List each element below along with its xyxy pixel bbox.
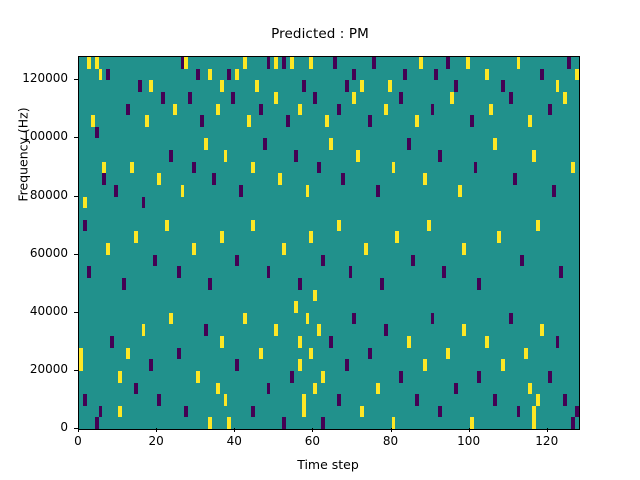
y-tick-mark [74,370,78,371]
heatmap-cell [142,324,146,336]
heatmap-cell [294,301,298,313]
heatmap-cell [267,383,271,395]
heatmap-cell [470,417,474,429]
x-tick-label: 20 [126,434,186,448]
heatmap-cell [364,243,368,255]
heatmap-cell [333,57,337,69]
heatmap-cell [575,69,579,81]
heatmap-cell [83,394,87,406]
heatmap-cell [442,266,446,278]
heatmap-cell [184,57,188,69]
heatmap-cell [372,57,376,69]
heatmap-cell [434,69,438,81]
heatmap-cell [106,69,110,81]
heatmap-cell [493,394,497,406]
heatmap-cell [149,80,153,92]
heatmap-cell [352,69,356,81]
heatmap-cell [224,394,228,406]
heatmap-cell [247,115,251,127]
x-tick-label: 0 [48,434,108,448]
heatmap-cell [427,220,431,232]
heatmap-cell [95,127,99,139]
heatmap-cell [255,80,259,92]
heatmap-cell [227,417,231,429]
y-tick-label: 60000 [0,246,68,260]
heatmap-cell [231,92,235,104]
heatmap-cell [458,185,462,197]
heatmap-cell [419,57,423,69]
heatmap-cell [263,138,267,150]
heatmap-cell [493,138,497,150]
matplotlib-figure: Predicted : PM 020406080100120 020000400… [0,0,640,480]
heatmap-cell [517,406,521,418]
heatmap-cell [95,57,99,69]
heatmap-cell [177,266,181,278]
heatmap-cell [157,394,161,406]
heatmap-cell [477,278,481,290]
x-axis-label: Time step [78,457,578,472]
heatmap-cell [173,104,177,116]
heatmap-cell [345,359,349,371]
heatmap-cell [83,220,87,232]
heatmap-cell [313,383,317,395]
heatmap-cell [290,371,294,383]
heatmap-cell [220,336,224,348]
heatmap-cell [83,197,87,209]
heatmap-cell [177,348,181,360]
heatmap-cell [161,92,165,104]
heatmap-cell [169,150,173,162]
x-tick-label: 80 [361,434,421,448]
heatmap-cell [274,92,278,104]
heatmap-cell [298,278,302,290]
heatmap-cell [548,371,552,383]
heatmap-cell [376,185,380,197]
heatmap-cell [126,348,130,360]
heatmap-cell [212,173,216,185]
heatmap-cell [302,80,306,92]
y-tick-label: 80000 [0,188,68,202]
heatmap-cell [462,324,466,336]
heatmap-cell [200,115,204,127]
y-tick-label: 40000 [0,304,68,318]
heatmap-cell [497,231,501,243]
heatmap-cell [438,150,442,162]
heatmap-cell [415,394,419,406]
heatmap-cell [251,406,255,418]
y-tick-mark [74,428,78,429]
heatmap-cell [134,231,138,243]
heatmap-cell [142,197,146,209]
heatmap-cell [571,162,575,174]
heatmap-cell [79,359,83,371]
heatmap-cell [278,173,282,185]
heatmap-cell [282,57,286,69]
heatmap-cell [282,417,286,429]
heatmap-cell [122,278,126,290]
heatmap-cell [192,162,196,174]
heatmap-cell [563,394,567,406]
x-tick-label: 120 [517,434,577,448]
heatmap-cell [438,406,442,418]
heatmap-cell [317,324,321,336]
heatmap-cell [489,104,493,116]
x-tick-label: 100 [439,434,499,448]
heatmap-cell [337,220,341,232]
x-tick-mark [78,428,79,432]
heatmap-cell [87,266,91,278]
heatmap-cell [380,278,384,290]
heatmap-cell [309,57,313,69]
heatmap-cell [462,243,466,255]
heatmap-cell [239,185,243,197]
heatmap-cell [399,371,403,383]
heatmap-cell [466,57,470,69]
heatmap-cell [298,336,302,348]
heatmap-cell [290,57,294,69]
heatmap-cell [306,313,310,325]
heatmap-cell [259,348,263,360]
heatmap-cell [208,69,212,81]
heatmap-cell [306,185,310,197]
heatmap-cell [216,383,220,395]
heatmap-cell [485,336,489,348]
heatmap-cell [235,359,239,371]
heatmap-cell [337,394,341,406]
x-tick-mark [391,428,392,432]
heatmap-cell [204,324,208,336]
heatmap-cell [243,57,247,69]
heatmap-cell [149,359,153,371]
heatmap-cell [360,406,364,418]
heatmap-cell [329,336,333,348]
heatmap-cell [395,231,399,243]
heatmap-cell [110,336,114,348]
heatmap-cell [298,359,302,371]
heatmap-cell [454,383,458,395]
heatmap-cell [509,92,513,104]
heatmap-cell [259,104,263,116]
heatmap-cell [106,243,110,255]
heatmap-cell [407,138,411,150]
heatmap-cell [181,185,185,197]
heatmap-cell [286,115,290,127]
y-axis-label: Frequency (Hz) [16,0,31,328]
heatmap-cell [267,266,271,278]
y-tick-label: 120000 [0,71,68,85]
x-tick-label: 60 [282,434,342,448]
heatmap-cell [99,69,103,81]
heatmap-cell [267,57,271,69]
heatmap-cell [454,80,458,92]
heatmap-cell [243,313,247,325]
heatmap-cell [532,150,536,162]
heatmap-cell [216,104,220,116]
heatmap-cell [302,394,306,406]
heatmap-cell [352,313,356,325]
heatmap-axes [78,56,580,430]
heatmap-cell [345,80,349,92]
heatmap-cell [384,324,388,336]
y-tick-label: 0 [0,420,68,434]
heatmap-cell [192,243,196,255]
heatmap-cell [450,92,454,104]
heatmap-cell [575,406,579,418]
heatmap-cell [208,278,212,290]
heatmap-cell [157,173,161,185]
heatmap-cell [114,185,118,197]
chart-title: Predicted : PM [0,26,640,42]
heatmap-cell [220,231,224,243]
heatmap-cell [102,173,106,185]
heatmap-cell [165,220,169,232]
heatmap-cell [188,92,192,104]
heatmap-cell [524,348,528,360]
heatmap-cell [352,92,356,104]
heatmap-cell [145,115,149,127]
heatmap-cell [528,383,532,395]
heatmap-cell [298,104,302,116]
heatmap-cell [341,173,345,185]
heatmap-cell [196,371,200,383]
heatmap-cell [376,383,380,395]
heatmap-cell [517,57,521,69]
heatmap-cell [274,57,278,69]
heatmap-cell [392,162,396,174]
heatmap-cell [399,92,403,104]
heatmap-cell [536,220,540,232]
heatmap-cell [95,417,99,429]
x-tick-mark [312,428,313,432]
heatmap-cell [184,406,188,418]
heatmap-cell [501,359,505,371]
heatmap-cell [309,348,313,360]
heatmap-cell [411,255,415,267]
heatmap-cell [91,115,95,127]
heatmap-cell [224,150,228,162]
heatmap-cell [474,162,478,174]
heatmap-cell [540,324,544,336]
heatmap-cell [313,92,317,104]
heatmap-cell [349,266,353,278]
heatmap-cell [485,69,489,81]
heatmap-cell [79,348,83,360]
heatmap-cell [571,417,575,429]
heatmap-cell [321,255,325,267]
heatmap-cell [423,173,427,185]
heatmap-cell [169,313,173,325]
heatmap-cell [368,348,372,360]
heatmap-cell [102,162,106,174]
heatmap-cell [520,255,524,267]
heatmap-cell [138,80,142,92]
heatmap-cell [470,115,474,127]
heatmap-cell [536,394,540,406]
heatmap-cell [356,150,360,162]
heatmap-cell [388,80,392,92]
heatmap-cell [446,348,450,360]
heatmap-cell [99,406,103,418]
y-tick-mark [74,79,78,80]
heatmap-cell [153,255,157,267]
heatmap-cell [513,173,517,185]
heatmap-cell [407,336,411,348]
heatmap-cell [431,104,435,116]
heatmap-cell [563,92,567,104]
x-tick-mark [547,428,548,432]
heatmap-cell [313,290,317,302]
heatmap-cell [321,417,325,429]
heatmap-cell [552,185,556,197]
heatmap-cell [321,371,325,383]
heatmap-cell [548,104,552,116]
heatmap-cell [317,162,321,174]
heatmap-cell [126,104,130,116]
heatmap-cell [208,417,212,429]
heatmap-cell [415,115,419,127]
heatmap-cell [251,162,255,174]
heatmap-cell [220,80,224,92]
x-tick-label: 40 [204,434,264,448]
heatmap-cell [392,417,396,429]
heatmap-cell [130,162,134,174]
y-tick-mark [74,196,78,197]
heatmap-cell [329,138,333,150]
heatmap-cell [251,220,255,232]
heatmap-cell [274,324,278,336]
heatmap-cell [196,69,200,81]
heatmap-cell [302,406,306,418]
heatmap-cell [567,57,571,69]
heatmap-cell [235,69,239,81]
heatmap-cell [118,371,122,383]
x-tick-mark [156,428,157,432]
heatmap-cell [423,359,427,371]
heatmap-cell [559,266,563,278]
heatmap-cell [532,406,536,418]
heatmap-cell [477,371,481,383]
x-tick-mark [234,428,235,432]
y-tick-mark [74,137,78,138]
heatmap-cell [509,313,513,325]
heatmap-cell [540,69,544,81]
heatmap-cell [384,104,388,116]
heatmap-cell [118,406,122,418]
heatmap-cell [227,69,231,81]
heatmap-cell [309,231,313,243]
heatmap-cell [501,80,505,92]
y-tick-mark [74,254,78,255]
heatmap-cell [556,80,560,92]
y-tick-label: 20000 [0,362,68,376]
heatmap-cell [204,138,208,150]
y-tick-label: 100000 [0,129,68,143]
heatmap-cell [368,115,372,127]
heatmap-cell [337,104,341,116]
heatmap-cell [87,57,91,69]
heatmap-cell [325,115,329,127]
heatmap-grid [79,57,579,429]
heatmap-cell [532,417,536,429]
heatmap-cell [294,150,298,162]
y-tick-mark [74,312,78,313]
heatmap-cell [134,383,138,395]
heatmap-cell [528,115,532,127]
x-tick-mark [469,428,470,432]
heatmap-cell [403,69,407,81]
heatmap-cell [446,57,450,69]
heatmap-cell [360,80,364,92]
heatmap-cell [282,243,286,255]
heatmap-cell [431,313,435,325]
heatmap-cell [556,336,560,348]
heatmap-cell [235,255,239,267]
